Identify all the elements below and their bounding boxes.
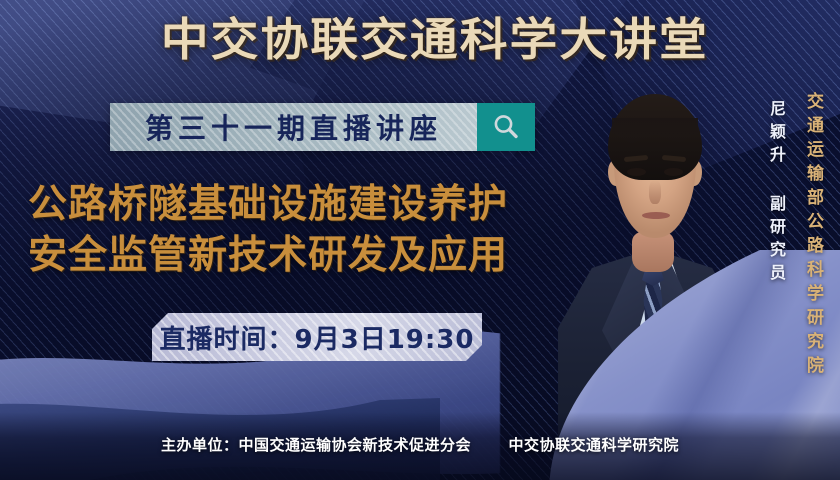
poster-canvas: 中交协联交通科学大讲堂 第三十一期直播讲座 公路桥隧基础设施建设养护 安全监管新… [0, 0, 840, 480]
episode-bar: 第三十一期直播讲座 [110, 103, 535, 151]
search-icon [491, 112, 521, 142]
speaker-name-title: 尼颖升 副研究员 [764, 100, 788, 287]
search-button[interactable] [477, 103, 535, 151]
episode-label: 第三十一期直播讲座 [145, 107, 442, 147]
portrait-mouth [642, 212, 670, 219]
episode-bar-background: 第三十一期直播讲座 [110, 103, 477, 151]
lecture-subject-line1: 公路桥隧基础设施建设养护 [28, 182, 508, 227]
broadcast-time-pill: 直播时间：9月3日19:30 [152, 313, 482, 361]
footer: 主办单位：中国交通运输协会新技术促进分会 中交协联交通科学研究院 [0, 434, 840, 455]
footer-institute: 中交协联交通科学研究院 [508, 436, 679, 454]
portrait-eye-left [627, 168, 646, 176]
speaker-organization: 交通运输部公路科学研究院 [801, 92, 826, 380]
footer-host: 主办单位：中国交通运输协会新技术促进分会 [161, 436, 471, 454]
main-title: 中交协联交通科学大讲堂 [0, 16, 840, 65]
broadcast-time-label: 直播时间：9月3日19:30 [160, 319, 475, 356]
lecture-subject: 公路桥隧基础设施建设养护 安全监管新技术研发及应用 [28, 180, 588, 281]
lecture-subject-line2: 安全监管新技术研发及应用 [28, 231, 588, 282]
portrait-eye-right [664, 168, 683, 176]
portrait-neck [632, 232, 674, 272]
portrait-nose [649, 180, 661, 204]
